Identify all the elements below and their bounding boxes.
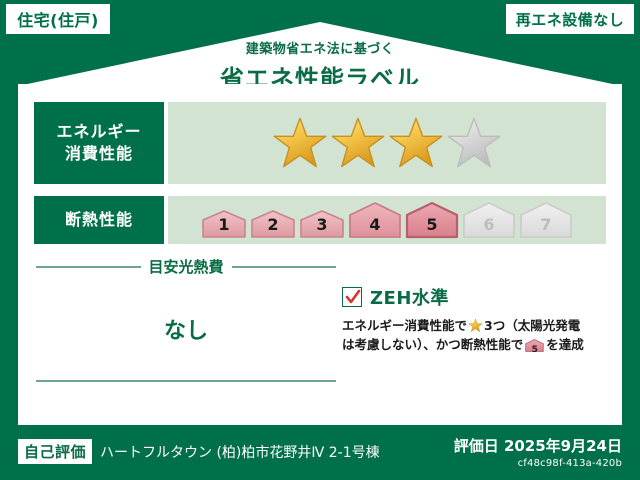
footer-right-group: 評価日 2025年9月24日 cf48c98f-413a-420b (454, 435, 622, 469)
insulation-level-1: 1 (201, 209, 247, 239)
insulation-level-4: 4 (348, 201, 402, 239)
star-icon-empty-4 (446, 115, 502, 171)
insulation-performance-value: 1 2 3 (168, 196, 606, 244)
zeh-checkbox[interactable] (342, 287, 362, 307)
building-name: ハートフルタウン (柏)柏市花野井Ⅳ 2-1号棟 (100, 442, 380, 462)
insulation-performance-row: 断熱性能 1 2 (34, 196, 606, 244)
insulation-level-1-number: 1 (201, 215, 247, 234)
insulation-level-scale: 1 2 3 (201, 201, 573, 239)
insulation-level-3-number: 3 (299, 215, 345, 234)
self-evaluation-badge: 自己評価 (18, 439, 92, 464)
evaluation-date-value: 2025年9月24日 (504, 437, 622, 455)
zeh-description: エネルギー消費性能で 3つ（太陽光発電 は考慮しない）、かつ断熱性能で 5 を達… (342, 316, 604, 359)
insulation-performance-label-box: 断熱性能 (34, 196, 164, 244)
utility-cost-heading-text: 目安光熱費 (149, 256, 224, 277)
energy-performance-label-box: エネルギー 消費性能 (34, 102, 164, 184)
star-rating (272, 115, 502, 171)
insulation-level-7: 7 (519, 201, 573, 239)
check-icon (344, 288, 362, 306)
heading-rule-right (232, 266, 337, 268)
insulation-level-5-number: 5 (405, 215, 459, 234)
evaluation-date-label: 評価日 (454, 437, 499, 455)
zeh-desc-part1: エネルギー消費性能で (342, 318, 467, 333)
utility-cost-section: 目安光熱費 なし (36, 256, 336, 345)
insulation-level-3: 3 (299, 209, 345, 239)
footer: 自己評価 ハートフルタウン (柏)柏市花野井Ⅳ 2-1号棟 評価日 2025年9… (0, 425, 640, 480)
zeh-standard-section: ZEH水準 エネルギー消費性能で 3つ（太陽光発電 は考慮しない）、かつ断熱性能… (342, 284, 604, 359)
cost-section-divider (36, 380, 336, 382)
insulation-level-2-number: 2 (250, 215, 296, 234)
energy-label-line1: エネルギー (56, 121, 141, 143)
heading-rule-left (36, 266, 141, 268)
zeh-desc-part2: は考慮しない）、かつ断熱性能で (342, 337, 523, 352)
star-icon-filled-2 (330, 115, 386, 171)
star-icon-filled-3 (388, 115, 444, 171)
evaluation-id: cf48c98f-413a-420b (454, 458, 622, 469)
inline-insulation-badge-number: 5 (525, 344, 544, 358)
insulation-level-4-number: 4 (348, 215, 402, 234)
energy-performance-row: エネルギー 消費性能 (34, 102, 606, 184)
evaluation-date: 評価日 2025年9月24日 (454, 435, 622, 456)
energy-label-line2: 消費性能 (65, 143, 133, 165)
roof-shape (18, 22, 622, 86)
inline-insulation-badge: 5 (525, 338, 544, 358)
insulation-level-2: 2 (250, 209, 296, 239)
insulation-level-7-number: 7 (519, 215, 573, 234)
energy-performance-label: 住宅(住戸) 再エネ設備なし 建築物省エネ法に基づく 省エネ性能ラベル エネルギ… (0, 0, 640, 480)
zeh-desc-part3: を達成 (546, 337, 584, 352)
insulation-level-6: 6 (462, 201, 516, 239)
insulation-level-6-number: 6 (462, 215, 516, 234)
zeh-desc-star-count: 3つ（太陽光発電 (484, 318, 580, 333)
energy-performance-value (168, 102, 606, 184)
star-icon-filled-1 (272, 115, 328, 171)
main-panel: エネルギー 消費性能 (18, 84, 622, 425)
utility-cost-heading: 目安光熱費 (36, 256, 336, 277)
inline-star-icon (468, 318, 483, 333)
zeh-title: ZEH水準 (370, 284, 449, 310)
utility-cost-value: なし (36, 313, 336, 345)
zeh-heading: ZEH水準 (342, 284, 604, 310)
insulation-level-5: 5 (405, 201, 459, 239)
footer-left-group: 自己評価 ハートフルタウン (柏)柏市花野井Ⅳ 2-1号棟 (18, 439, 380, 464)
